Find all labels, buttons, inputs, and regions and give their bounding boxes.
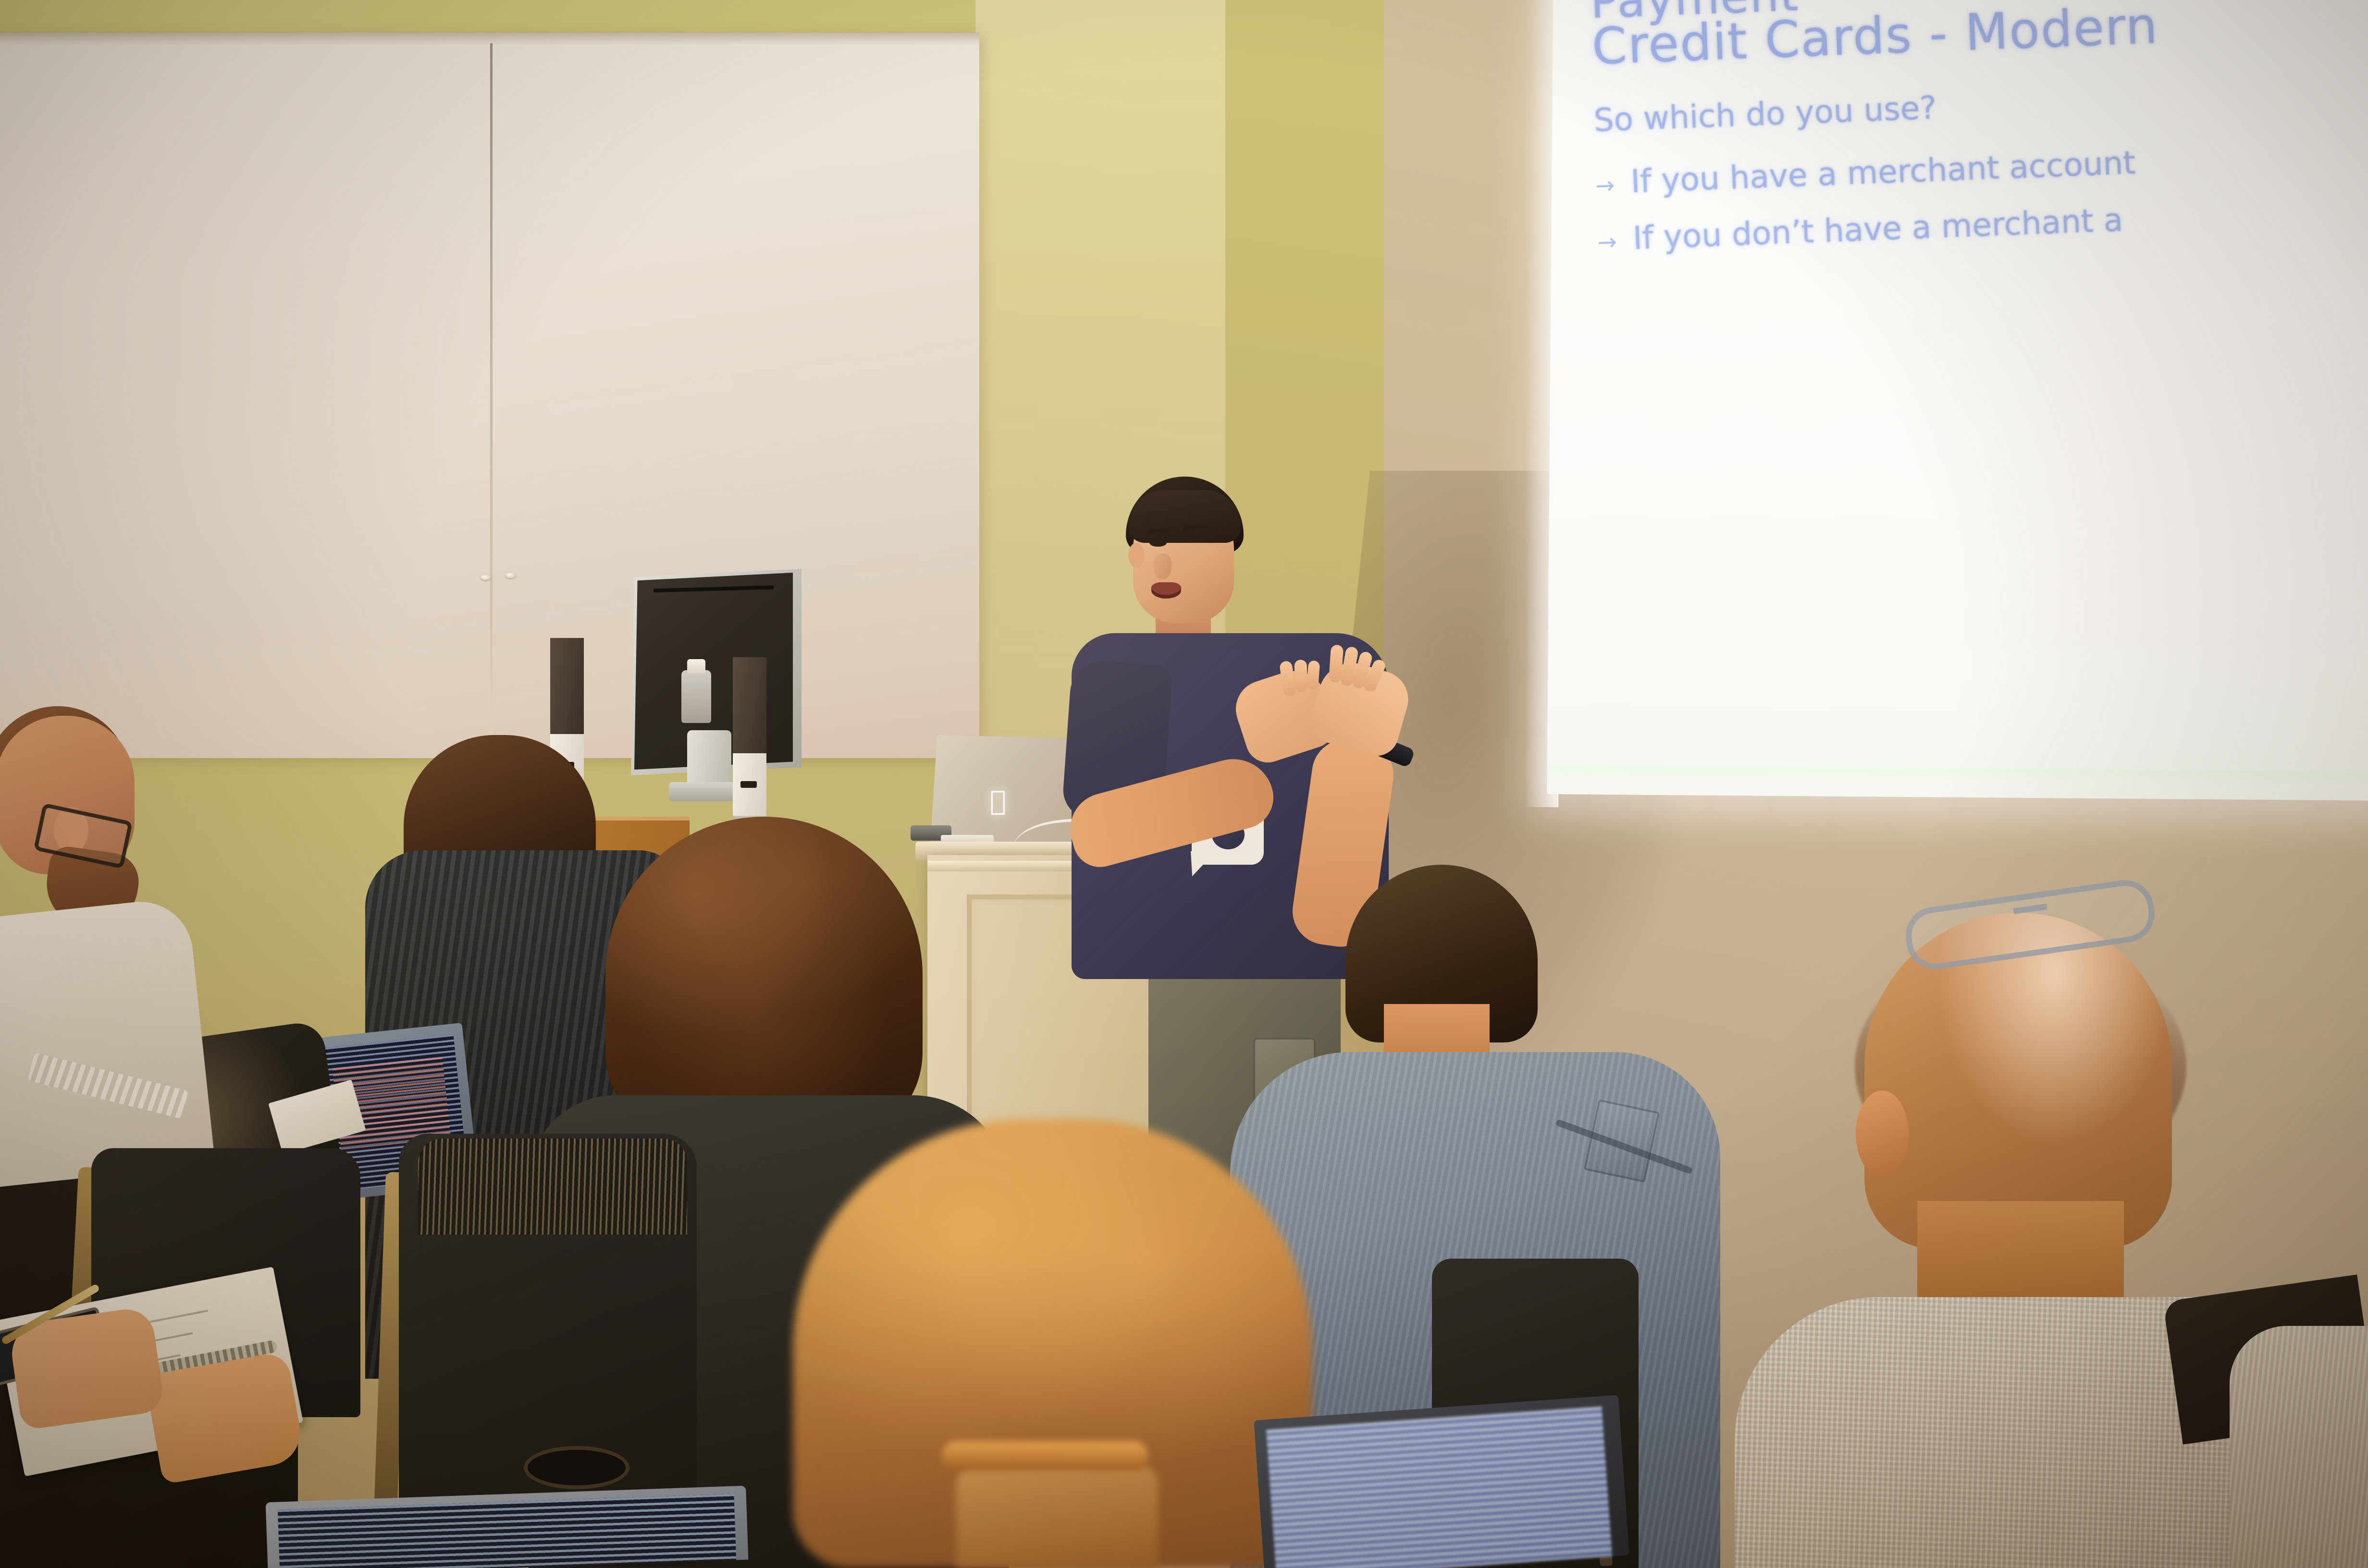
- finger: [1307, 661, 1320, 690]
- whiteboard-seam: [490, 43, 493, 749]
- chair-handle-hole: [524, 1446, 629, 1489]
- chair-mesh-2: [418, 1139, 687, 1235]
- presenter-ear: [1128, 543, 1145, 568]
- whiteboard-top-shadow: [0, 33, 979, 45]
- slide-bullet-1-text: If you have a merchant account: [1630, 144, 2136, 200]
- audience-f-ear: [1856, 1090, 1909, 1177]
- whiteboard-screw-left: [481, 575, 491, 580]
- arrow-right-icon: →: [1595, 172, 1615, 199]
- audience-g-shoulder: [2230, 1326, 2368, 1568]
- presenter-mouth: [1151, 582, 1181, 599]
- projection-screen: Payment Credit Cards - Modern So which d…: [1547, 0, 2368, 801]
- water-bottle-cap: [687, 659, 705, 674]
- speaker-port: [740, 781, 757, 788]
- arrow-right-icon: →: [1597, 229, 1617, 256]
- presenter-eye-right: [1186, 535, 1203, 543]
- presenter-eye-left: [1149, 539, 1167, 547]
- audience-d-ponytail: [956, 1465, 1158, 1568]
- slide-bullet-1: → If you have a merchant account: [1594, 144, 2136, 201]
- audience-f-head: [1864, 913, 2172, 1249]
- whiteboard-panel: [0, 33, 979, 758]
- finger: [1294, 660, 1307, 693]
- audience-c-hair: [605, 817, 923, 1143]
- speaker-grille: [550, 638, 584, 734]
- whiteboard-screw-right: [506, 573, 516, 578]
- slide-bullet-2-text: If you don’t have a merchant a: [1632, 201, 2124, 257]
- audience-a-shawl: [0, 896, 215, 1188]
- speaker-right: [733, 657, 766, 816]
- presenter-nose: [1153, 553, 1172, 579]
- hair-tie: [942, 1441, 1148, 1470]
- slide-bullet-2: → If you don’t have a merchant a: [1597, 201, 2124, 258]
- photo-scene: Payment Credit Cards - Modern So which d…: [0, 0, 2368, 1568]
- presenter-hair-front: [1128, 490, 1241, 543]
- water-bottle: [681, 670, 711, 723]
- presentation-slide: Payment Credit Cards - Modern So which d…: [1554, 0, 2368, 688]
- speaker-grille: [733, 657, 766, 753]
- apple-logo-icon: : [990, 790, 1012, 815]
- slide-lead-text: So which do you use?: [1593, 89, 1937, 139]
- foreground-laptop-mid-screen: [1266, 1407, 1612, 1568]
